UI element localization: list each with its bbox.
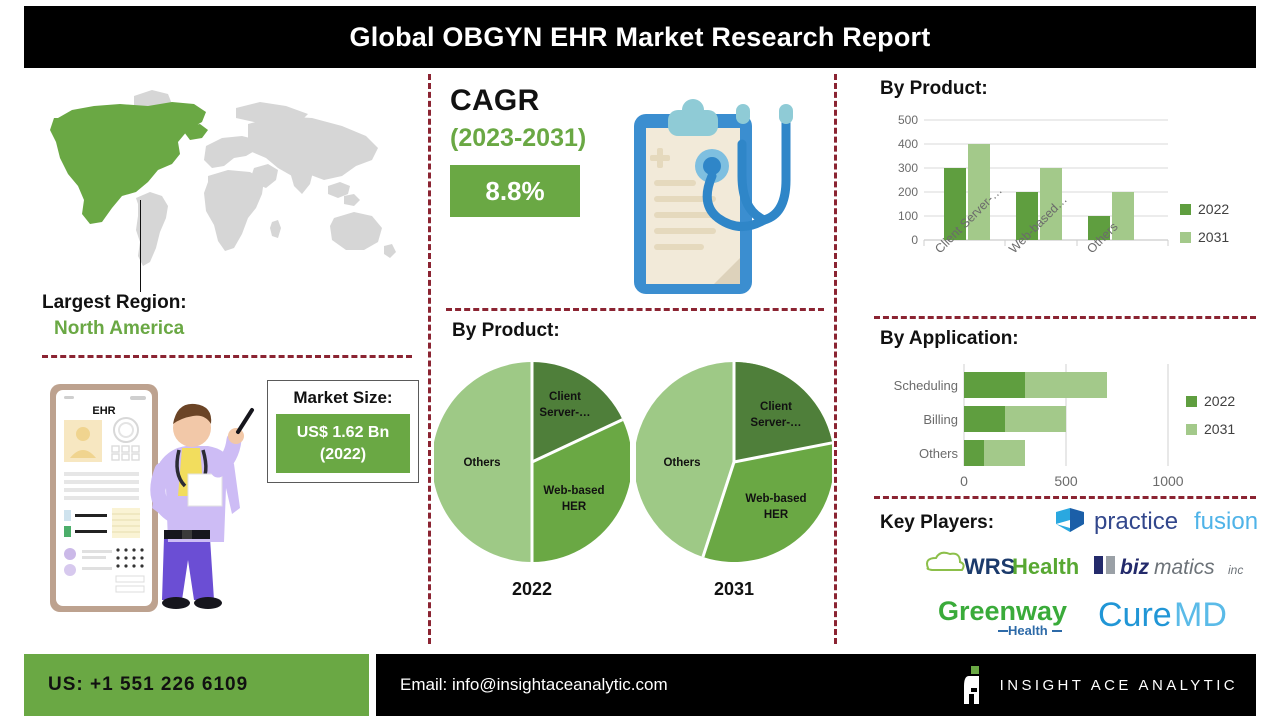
hbar-legend-2031: 2031 [1204, 421, 1235, 437]
hbar-cat-label-2: Others [919, 446, 959, 461]
svg-text:practice: practice [1094, 508, 1178, 535]
by-application-heading: By Application: [880, 328, 1256, 350]
footer-email: Email: info@insightaceanalytic.com [376, 675, 668, 695]
svg-text:fusion: fusion [1194, 508, 1258, 535]
svg-text:400: 400 [898, 137, 918, 151]
logo-practice-fusion: practice fusion [1052, 504, 1266, 536]
divider-right-horizontal-2 [874, 496, 1256, 499]
divider-right-horizontal-1 [874, 316, 1256, 319]
divider-left-horizontal [42, 355, 412, 358]
right-panel: By Product: 500 400 [836, 70, 1256, 648]
infographic-page: Global OBGYN EHR Market Research Report [0, 0, 1280, 720]
clipboard-stethoscope-illustration [616, 88, 834, 308]
by-product-bar-chart: 500 400 300 200 100 0 [880, 108, 1256, 326]
svg-text:WRS: WRS [964, 554, 1015, 579]
left-panel: Largest Region: North America EHR [24, 70, 428, 648]
pie-2031-label-others: Others [663, 457, 700, 469]
insight-ace-logo-icon [960, 664, 986, 706]
svg-text:0: 0 [911, 233, 918, 247]
market-size-box: Market Size: US$ 1.62 Bn (2022) [267, 380, 419, 483]
largest-region-label: Largest Region: [42, 292, 382, 314]
pie-2022-label-client-2: Server-… [539, 407, 590, 419]
footer-phone: US: +1 551 226 6109 [24, 674, 248, 696]
hbar-tick-0: 0 [960, 473, 968, 489]
market-size-label: Market Size: [276, 388, 410, 408]
cagr-value: 8.8% [450, 165, 580, 217]
divider-center-horizontal [446, 308, 824, 311]
hbar-cat-label-1: Billing [923, 412, 958, 427]
largest-region-value: North America [54, 318, 382, 340]
right-by-product-heading: By Product: [880, 78, 1256, 100]
pie-2022-caption: 2022 [434, 579, 630, 600]
map-pointer-line [140, 200, 141, 292]
pie-2031-label-client-2: Server-… [750, 417, 801, 429]
hbar-legend-2022: 2022 [1204, 393, 1235, 409]
pie-chart-2022: Others Client Server-… Web-based HER 202… [434, 352, 630, 632]
footer-contact-block: Email: info@insightaceanalytic.com INSIG… [376, 654, 1256, 716]
pie-2022-label-client-1: Client [549, 391, 581, 403]
market-size-amount: US$ 1.62 Bn [280, 422, 406, 444]
center-by-product-heading: By Product: [452, 320, 560, 342]
svg-text:100: 100 [898, 209, 918, 223]
world-map [40, 80, 420, 280]
svg-text:Cure: Cure [1098, 596, 1172, 634]
key-players-section: Key Players: practice fusion [880, 508, 1260, 648]
pie-2022-label-web-1: Web-based [543, 485, 604, 497]
market-size-year: (2022) [280, 444, 406, 466]
svg-text:matics: matics [1154, 556, 1215, 579]
logo-wrs-health: WRS Health [922, 550, 1092, 580]
largest-region-block: Largest Region: North America [42, 292, 382, 340]
pie-chart-group: Others Client Server-… Web-based HER 202… [434, 352, 834, 632]
page-title: Global OBGYN EHR Market Research Report [350, 22, 931, 53]
pie-2031-caption: 2031 [636, 579, 832, 600]
logo-greenway-health: Greenway Health [936, 594, 1084, 638]
center-panel: CAGR (2023-2031) 8.8% [428, 70, 836, 648]
bar-legend-2022: 2022 [1198, 201, 1229, 217]
pie-2031-label-web-1: Web-based [745, 493, 806, 505]
key-players-label: Key Players: [880, 512, 994, 534]
body-area: Largest Region: North America EHR [24, 70, 1256, 648]
pie-2022-label-others: Others [463, 457, 500, 469]
hbar-cat-label-0: Scheduling [894, 378, 958, 393]
footer-brand-name: INSIGHT ACE ANALYTIC [1000, 677, 1238, 694]
footer-brand: INSIGHT ACE ANALYTIC [960, 654, 1238, 716]
logo-bizmatics: biz matics inc [1092, 552, 1262, 580]
svg-text:EHR: EHR [92, 405, 115, 417]
pie-2031-label-client-1: Client [760, 401, 792, 413]
hbar-tick-500: 500 [1054, 473, 1078, 489]
svg-text:biz: biz [1120, 556, 1150, 579]
market-size-value-box: US$ 1.62 Bn (2022) [276, 414, 410, 473]
svg-text:inc: inc [1228, 563, 1243, 577]
bar-legend-2031: 2031 [1198, 229, 1229, 245]
svg-text:Greenway: Greenway [938, 596, 1067, 626]
header-bar: Global OBGYN EHR Market Research Report [24, 6, 1256, 68]
pie-2022-label-web-2: HER [562, 501, 587, 513]
footer-bar: US: +1 551 226 6109 Email: info@insighta… [24, 654, 1256, 716]
svg-text:200: 200 [898, 185, 918, 199]
ehr-device-illustration: EHR [42, 370, 272, 630]
by-application-bar-chart: Scheduling Billing Others 0 500 1000 202… [880, 358, 1256, 498]
hbar-tick-1000: 1000 [1152, 473, 1183, 489]
svg-text:300: 300 [898, 161, 918, 175]
svg-text:Health: Health [1008, 623, 1048, 638]
pie-chart-2031: Others Client Server-… Web-based HER 203… [636, 352, 832, 632]
svg-text:MD: MD [1174, 596, 1227, 634]
footer-phone-block: US: +1 551 226 6109 [24, 654, 369, 716]
svg-text:Health: Health [1012, 554, 1079, 579]
svg-text:500: 500 [898, 113, 918, 127]
pie-2031-label-web-2: HER [764, 509, 789, 521]
logo-curemd: Cure MD [1096, 592, 1256, 636]
